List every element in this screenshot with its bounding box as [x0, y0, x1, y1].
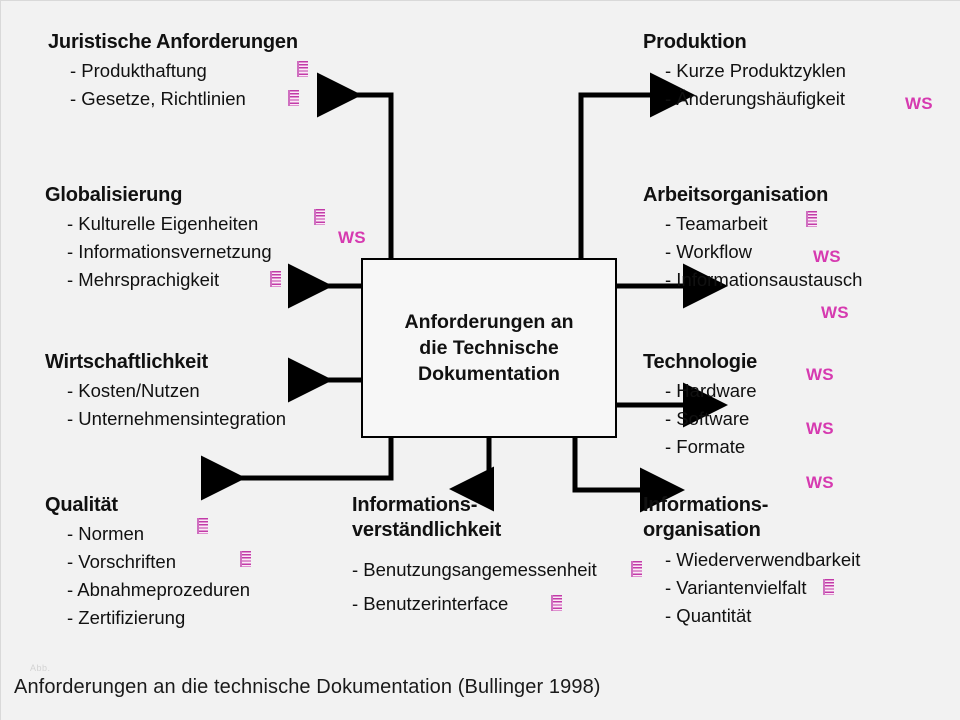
list-item: - Produkthaftung [48, 57, 298, 85]
document-icon [806, 211, 817, 227]
diagram-canvas: Anforderungen an die Technische Dokument… [0, 0, 960, 720]
list-item: - Informationsaustausch WS [643, 266, 862, 294]
caption-artifact: Abb. [30, 663, 51, 673]
document-icon [823, 579, 834, 595]
list-item: - Variantenvielfalt [643, 574, 873, 602]
list-item-label: - Quantität [665, 605, 751, 626]
figure-caption: Anforderungen an die technische Dokument… [14, 676, 601, 699]
group-items: - Teamarbeit - Workflow WS - Information… [643, 210, 862, 294]
group-items: - Wiederverwendbarkeit - Variantenvielfa… [643, 546, 873, 630]
group-title-line2: organisation [643, 519, 761, 541]
list-item-label: - Variantenvielfalt [665, 577, 807, 598]
list-item-label: - Benutzungsangemessenheit [352, 559, 597, 580]
document-icon [240, 551, 251, 567]
group-items: - Hardware WS - Software WS - Formate WS [643, 377, 757, 461]
group-title-line2: verständlichkeit [352, 519, 501, 541]
list-item: - Benutzerinterface [352, 587, 597, 621]
group-items: - Kosten/Nutzen - Unternehmensintegratio… [45, 377, 286, 433]
list-item-label: - Benutzerinterface [352, 593, 508, 614]
list-item: - Normen [45, 520, 250, 548]
list-item: - Formate WS [643, 433, 757, 461]
document-icon [288, 90, 299, 106]
center-node-title: Anforderungen an die Technische Dokument… [405, 309, 574, 387]
list-item-label: - Zertifizierung [67, 607, 185, 628]
list-item: - Änderungshäufigkeit WS [643, 85, 846, 113]
group-items: - Normen - Vorschriften - Abnahmeprozedu… [45, 520, 250, 632]
list-item: - Benutzungsangemessenheit [352, 553, 597, 587]
group-title: Globalisierung [45, 183, 272, 208]
list-item-label: - Vorschriften [67, 551, 176, 572]
list-item: - Workflow WS [643, 238, 862, 266]
list-item-label: - Kosten/Nutzen [67, 380, 200, 401]
group-title-line1: Informations- [352, 494, 477, 516]
center-node: Anforderungen an die Technische Dokument… [361, 258, 617, 438]
group-technologie: Technologie - Hardware WS - Software WS … [643, 350, 757, 461]
document-icon [197, 518, 208, 534]
group-title: Qualität [45, 493, 250, 518]
list-item-label: - Teamarbeit [665, 213, 767, 234]
group-arbeitsorganisation: Arbeitsorganisation - Teamarbeit - Workf… [643, 183, 862, 294]
list-item-label: - Abnahmeprozeduren [67, 579, 250, 600]
document-icon [297, 61, 308, 77]
list-item-label: - Produkthaftung [70, 60, 207, 81]
list-item: - Vorschriften [45, 548, 250, 576]
group-globalisierung: Globalisierung - Kulturelle Eigenheiten … [45, 183, 272, 294]
list-item: - Hardware WS [643, 377, 757, 405]
list-item: - Kurze Produktzyklen [643, 57, 846, 85]
arrow-to-qualitaet [206, 438, 391, 478]
list-item-label: - Workflow [665, 241, 752, 262]
list-item: - Abnahmeprozeduren [45, 576, 250, 604]
group-items: - Benutzungsangemessenheit - Benutzerint… [352, 553, 597, 621]
list-item-label: - Gesetze, Richtlinien [70, 88, 246, 109]
list-item: - Zertifizierung [45, 604, 250, 632]
list-item-label: - Wiederverwendbarkeit [665, 549, 860, 570]
ws-marker: WS [821, 299, 849, 327]
ws-marker: WS [806, 361, 834, 389]
list-item-label: - Kulturelle Eigenheiten [67, 213, 258, 234]
group-items: - Kulturelle Eigenheiten WS - Informatio… [45, 210, 272, 294]
group-produktion: Produktion - Kurze Produktzyklen - Änder… [643, 30, 846, 113]
list-item-label: - Informationsaustausch [665, 269, 862, 290]
group-wirtschaftlichkeit: Wirtschaftlichkeit - Kosten/Nutzen - Unt… [45, 350, 286, 433]
list-item-label: - Änderungshäufigkeit [665, 88, 845, 109]
list-item: - Mehrsprachigkeit [45, 266, 272, 294]
list-item: - Wiederverwendbarkeit [643, 546, 873, 574]
group-informationsorganisation: Informations- organisation - Wiederverwe… [643, 493, 873, 630]
list-item-label: - Normen [67, 523, 144, 544]
group-juristische-anforderungen: Juristische Anforderungen - Produkthaftu… [48, 30, 298, 113]
document-icon [551, 595, 562, 611]
list-item-label: - Software [665, 408, 749, 429]
list-item: - Informationsvernetzung [45, 238, 272, 266]
group-title-line1: Informations- [643, 494, 768, 516]
list-item: - Gesetze, Richtlinien [48, 85, 298, 113]
list-item-label: - Informationsvernetzung [67, 241, 272, 262]
list-item: - Software WS [643, 405, 757, 433]
group-title: Produktion [643, 30, 846, 55]
group-informationsverstaendlichkeit: Informations- verständlichkeit - Benutzu… [352, 493, 597, 621]
group-title: Informations- verständlichkeit [352, 493, 582, 543]
list-item: - Kulturelle Eigenheiten WS [45, 210, 272, 238]
group-title: Informations- organisation [643, 493, 873, 543]
arrow-to-informationsorganisation [575, 438, 645, 490]
list-item: - Quantität [643, 602, 873, 630]
list-item-label: - Hardware [665, 380, 757, 401]
document-icon [631, 561, 642, 577]
list-item: - Unternehmensintegration [45, 405, 286, 433]
document-icon [270, 271, 281, 287]
document-icon [314, 209, 325, 225]
list-item-label: - Formate [665, 436, 745, 457]
group-items: - Produkthaftung - Gesetze, Richtlinien [48, 57, 298, 113]
group-items: - Kurze Produktzyklen - Änderungshäufigk… [643, 57, 846, 113]
list-item: - Teamarbeit [643, 210, 862, 238]
group-title: Juristische Anforderungen [48, 30, 298, 55]
ws-marker: WS [806, 415, 834, 443]
list-item-label: - Kurze Produktzyklen [665, 60, 846, 81]
group-title: Technologie [643, 350, 757, 375]
group-qualitaet: Qualität - Normen - Vorschriften - Abnah… [45, 493, 250, 632]
ws-marker: WS [338, 224, 366, 252]
list-item-label: - Unternehmensintegration [67, 408, 286, 429]
list-item: - Kosten/Nutzen [45, 377, 286, 405]
group-title: Wirtschaftlichkeit [45, 350, 286, 375]
list-item-label: - Mehrsprachigkeit [67, 269, 219, 290]
group-title: Arbeitsorganisation [643, 183, 862, 208]
ws-marker: WS [905, 90, 933, 118]
